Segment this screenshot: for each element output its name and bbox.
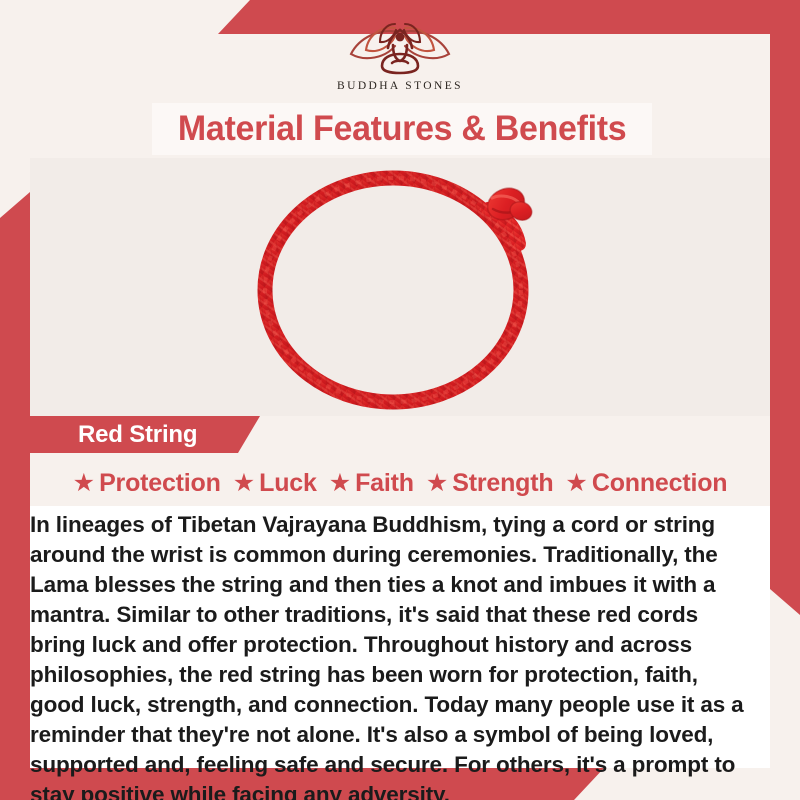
benefit-label: Faith bbox=[355, 469, 414, 498]
title-plate: Material Features & Benefits bbox=[152, 103, 652, 155]
material-label: Red String bbox=[30, 421, 197, 449]
benefit-label: Luck bbox=[259, 469, 317, 498]
star-icon: ★ bbox=[233, 471, 255, 496]
red-braided-string-bracelet-icon bbox=[230, 164, 570, 414]
benefit-item-protection: ★ Protection bbox=[73, 469, 221, 498]
poster-root: BUDDHA STONES Material Features & Benefi… bbox=[0, 0, 800, 800]
product-photo bbox=[30, 158, 770, 416]
lotus-meditation-icon bbox=[335, 12, 465, 78]
star-icon: ★ bbox=[329, 471, 351, 496]
benefit-item-strength: ★ Strength bbox=[426, 469, 554, 498]
benefits-row: ★ Protection ★ Luck ★ Faith ★ Strength ★… bbox=[30, 462, 770, 504]
benefit-label: Strength bbox=[452, 469, 553, 498]
benefit-item-connection: ★ Connection bbox=[565, 469, 727, 498]
material-ribbon: Red String bbox=[30, 416, 260, 453]
page-title: Material Features & Benefits bbox=[178, 109, 626, 149]
star-icon: ★ bbox=[426, 471, 448, 496]
description-paragraph: In lineages of Tibetan Vajrayana Buddhis… bbox=[30, 510, 758, 800]
brand-wordmark: BUDDHA STONES bbox=[337, 80, 463, 92]
star-icon: ★ bbox=[73, 471, 95, 496]
benefit-item-luck: ★ Luck bbox=[233, 469, 317, 498]
benefit-item-faith: ★ Faith bbox=[329, 469, 414, 498]
benefit-label: Connection bbox=[592, 469, 728, 498]
star-icon: ★ bbox=[565, 471, 587, 496]
brand-logo: BUDDHA STONES bbox=[0, 12, 800, 100]
description-card: In lineages of Tibetan Vajrayana Buddhis… bbox=[30, 506, 770, 768]
decor-band-left bbox=[0, 192, 30, 800]
benefit-label: Protection bbox=[99, 469, 221, 498]
